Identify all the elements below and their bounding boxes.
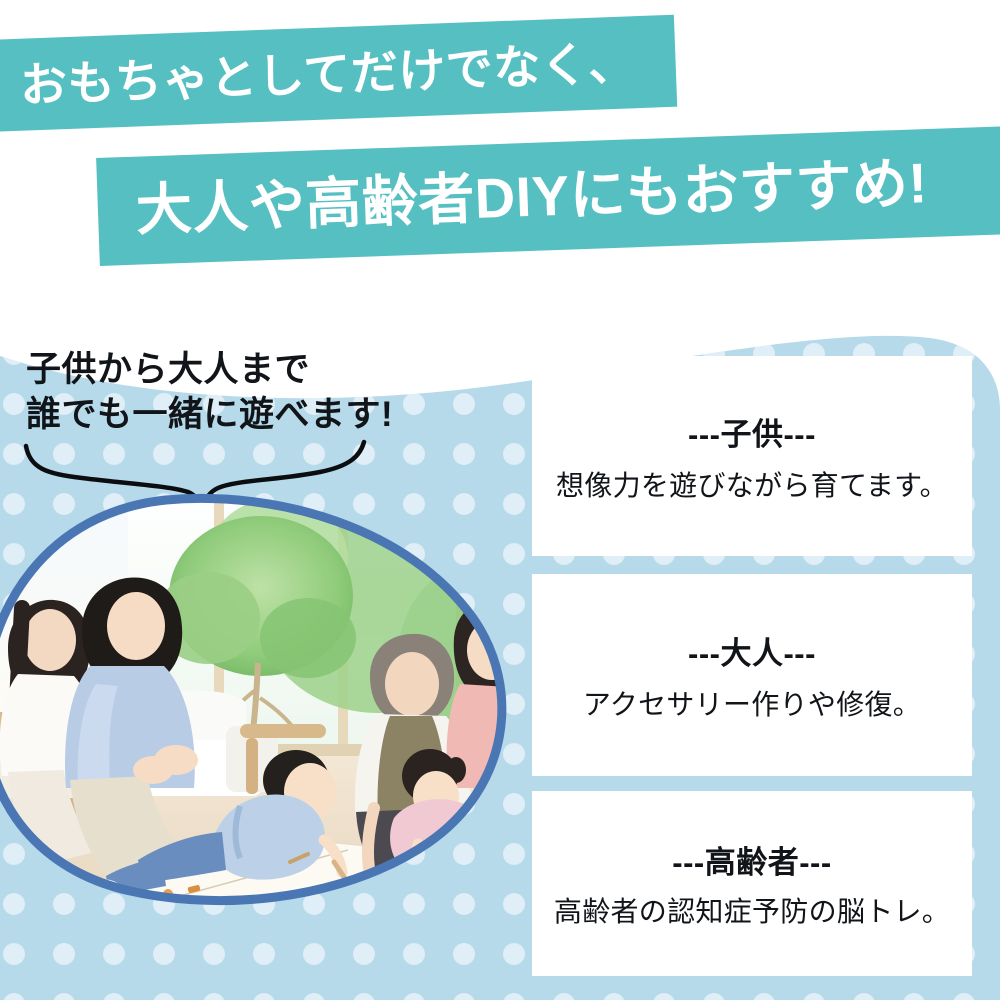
- info-card-adult-body: アクセサリー作りや修復。: [583, 683, 921, 723]
- lead-copy-line-1: 子供から大人まで: [26, 348, 393, 393]
- lead-copy-line-2: 誰でも一緒に遊べます!: [26, 393, 393, 438]
- info-card-adult: ---大人--- アクセサリー作りや修復。: [532, 574, 972, 776]
- infographic-page: おもちゃとしてだけでなく、 大人や高齢者DIYにもおすすめ! 子供から大人まで …: [0, 0, 1000, 1000]
- lead-copy: 子供から大人まで 誰でも一緒に遊べます!: [26, 348, 393, 438]
- headline-banner-primary: おもちゃとしてだけでなく、: [0, 15, 677, 132]
- family-photo: [0, 488, 523, 908]
- info-card-adult-title: ---大人---: [688, 628, 816, 673]
- headline-banner-primary-text: おもちゃとしてだけでなく、: [19, 39, 636, 109]
- headline-banner-secondary: 大人や高齢者DIYにもおすすめ!: [96, 126, 1000, 266]
- info-card-child: ---子供--- 想像力を遊びながら育てます。: [532, 356, 972, 556]
- info-card-senior-body: 高齢者の認知症予防の脳トレ。: [554, 890, 950, 930]
- headline-banner-secondary-text: 大人や高齢者DIYにもおすすめ!: [135, 155, 928, 239]
- info-card-senior-title: ---高齢者---: [672, 837, 831, 882]
- info-card-child-title: ---子供---: [688, 409, 816, 454]
- info-card-senior: ---高齢者--- 高齢者の認知症予防の脳トレ。: [532, 791, 972, 976]
- info-card-child-body: 想像力を遊びながら育てます。: [556, 464, 948, 504]
